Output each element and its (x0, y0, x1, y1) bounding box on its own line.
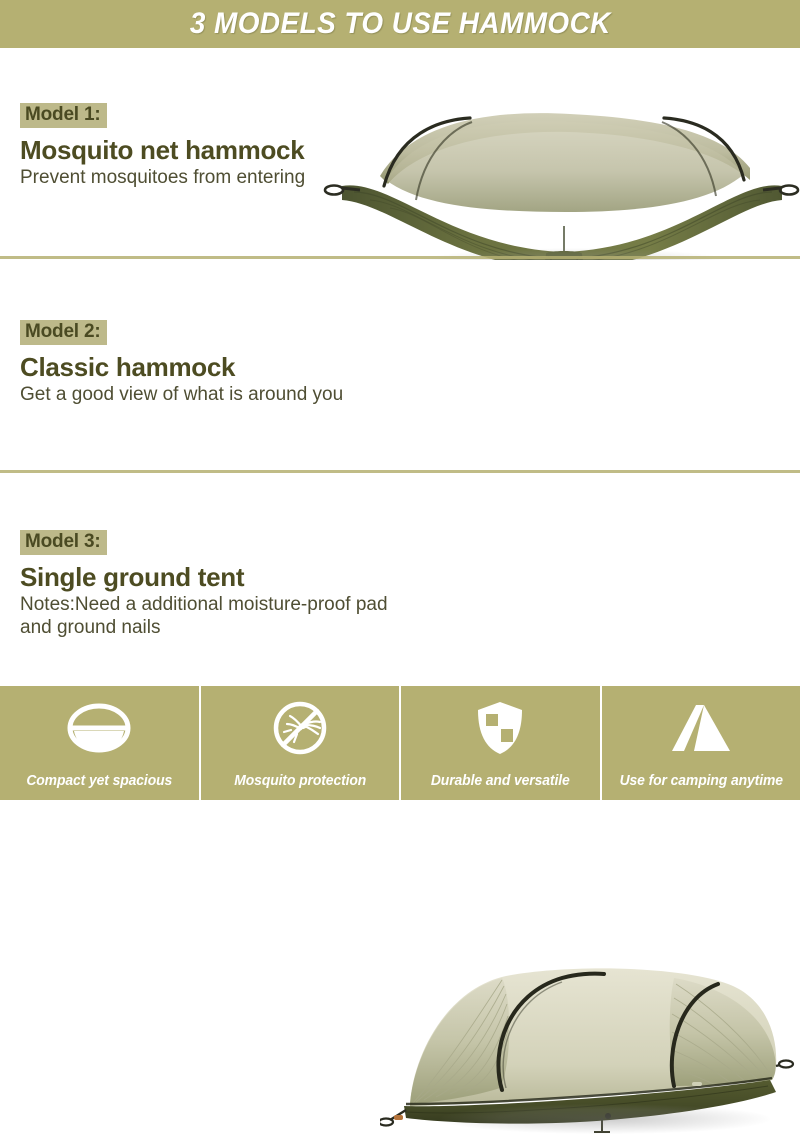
model-2-text-block: Model 2: Classic hammock Get a good view… (20, 320, 343, 407)
no-mosquito-icon (265, 699, 335, 757)
feature-use-for-camping-anytime[interactable]: Use for camping anytime (600, 686, 800, 800)
model-1-title: Mosquito net hammock (20, 136, 305, 165)
feature-durable-and-versatile[interactable]: Durable and versatile (399, 686, 600, 800)
model-2-subtitle: Get a good view of what is around you (20, 384, 343, 407)
page-title: 3 MODELS TO USE HAMMOCK (190, 7, 611, 41)
feature-label: Durable and versatile (405, 773, 596, 789)
section-divider-1 (0, 256, 800, 259)
section-divider-2 (0, 470, 800, 473)
model-1-subtitle: Prevent mosquitoes from entering (20, 167, 305, 190)
model-2-badge: Model 2: (20, 320, 107, 345)
model-section-3: Model 3: Single ground tent Notes:Need a… (0, 474, 800, 686)
model-3-badge: Model 3: (20, 530, 107, 555)
model-3-subtitle: Notes:Need a additional moisture-proof p… (20, 594, 420, 640)
feature-label: Use for camping anytime (605, 773, 796, 789)
model-1-text-block: Model 1: Mosquito net hammock Prevent mo… (20, 103, 305, 190)
feature-compact-yet-spacious[interactable]: Compact yet spacious (0, 686, 199, 800)
feature-label: Compact yet spacious (4, 773, 195, 789)
model-3-text-block: Model 3: Single ground tent Notes:Need a… (20, 530, 420, 640)
page-header: 3 MODELS TO USE HAMMOCK (0, 0, 800, 48)
model-2-title: Classic hammock (20, 353, 343, 382)
tent-icon (666, 699, 736, 757)
shield-icon (465, 699, 535, 757)
model-3-title: Single ground tent (20, 563, 420, 592)
product-shadow (440, 1104, 770, 1134)
model-3-product-image (380, 954, 800, 1139)
hammock-oval-icon (64, 699, 134, 757)
model-section-1: Model 1: Mosquito net hammock Prevent mo… (0, 48, 800, 257)
feature-mosquito-protection[interactable]: Mosquito protection (199, 686, 400, 800)
model-1-badge: Model 1: (20, 103, 107, 128)
feature-label: Mosquito protection (204, 773, 395, 789)
model-section-2: Model 2: Classic hammock Get a good view… (0, 260, 800, 471)
feature-bar: Compact yet spacious (0, 686, 800, 800)
